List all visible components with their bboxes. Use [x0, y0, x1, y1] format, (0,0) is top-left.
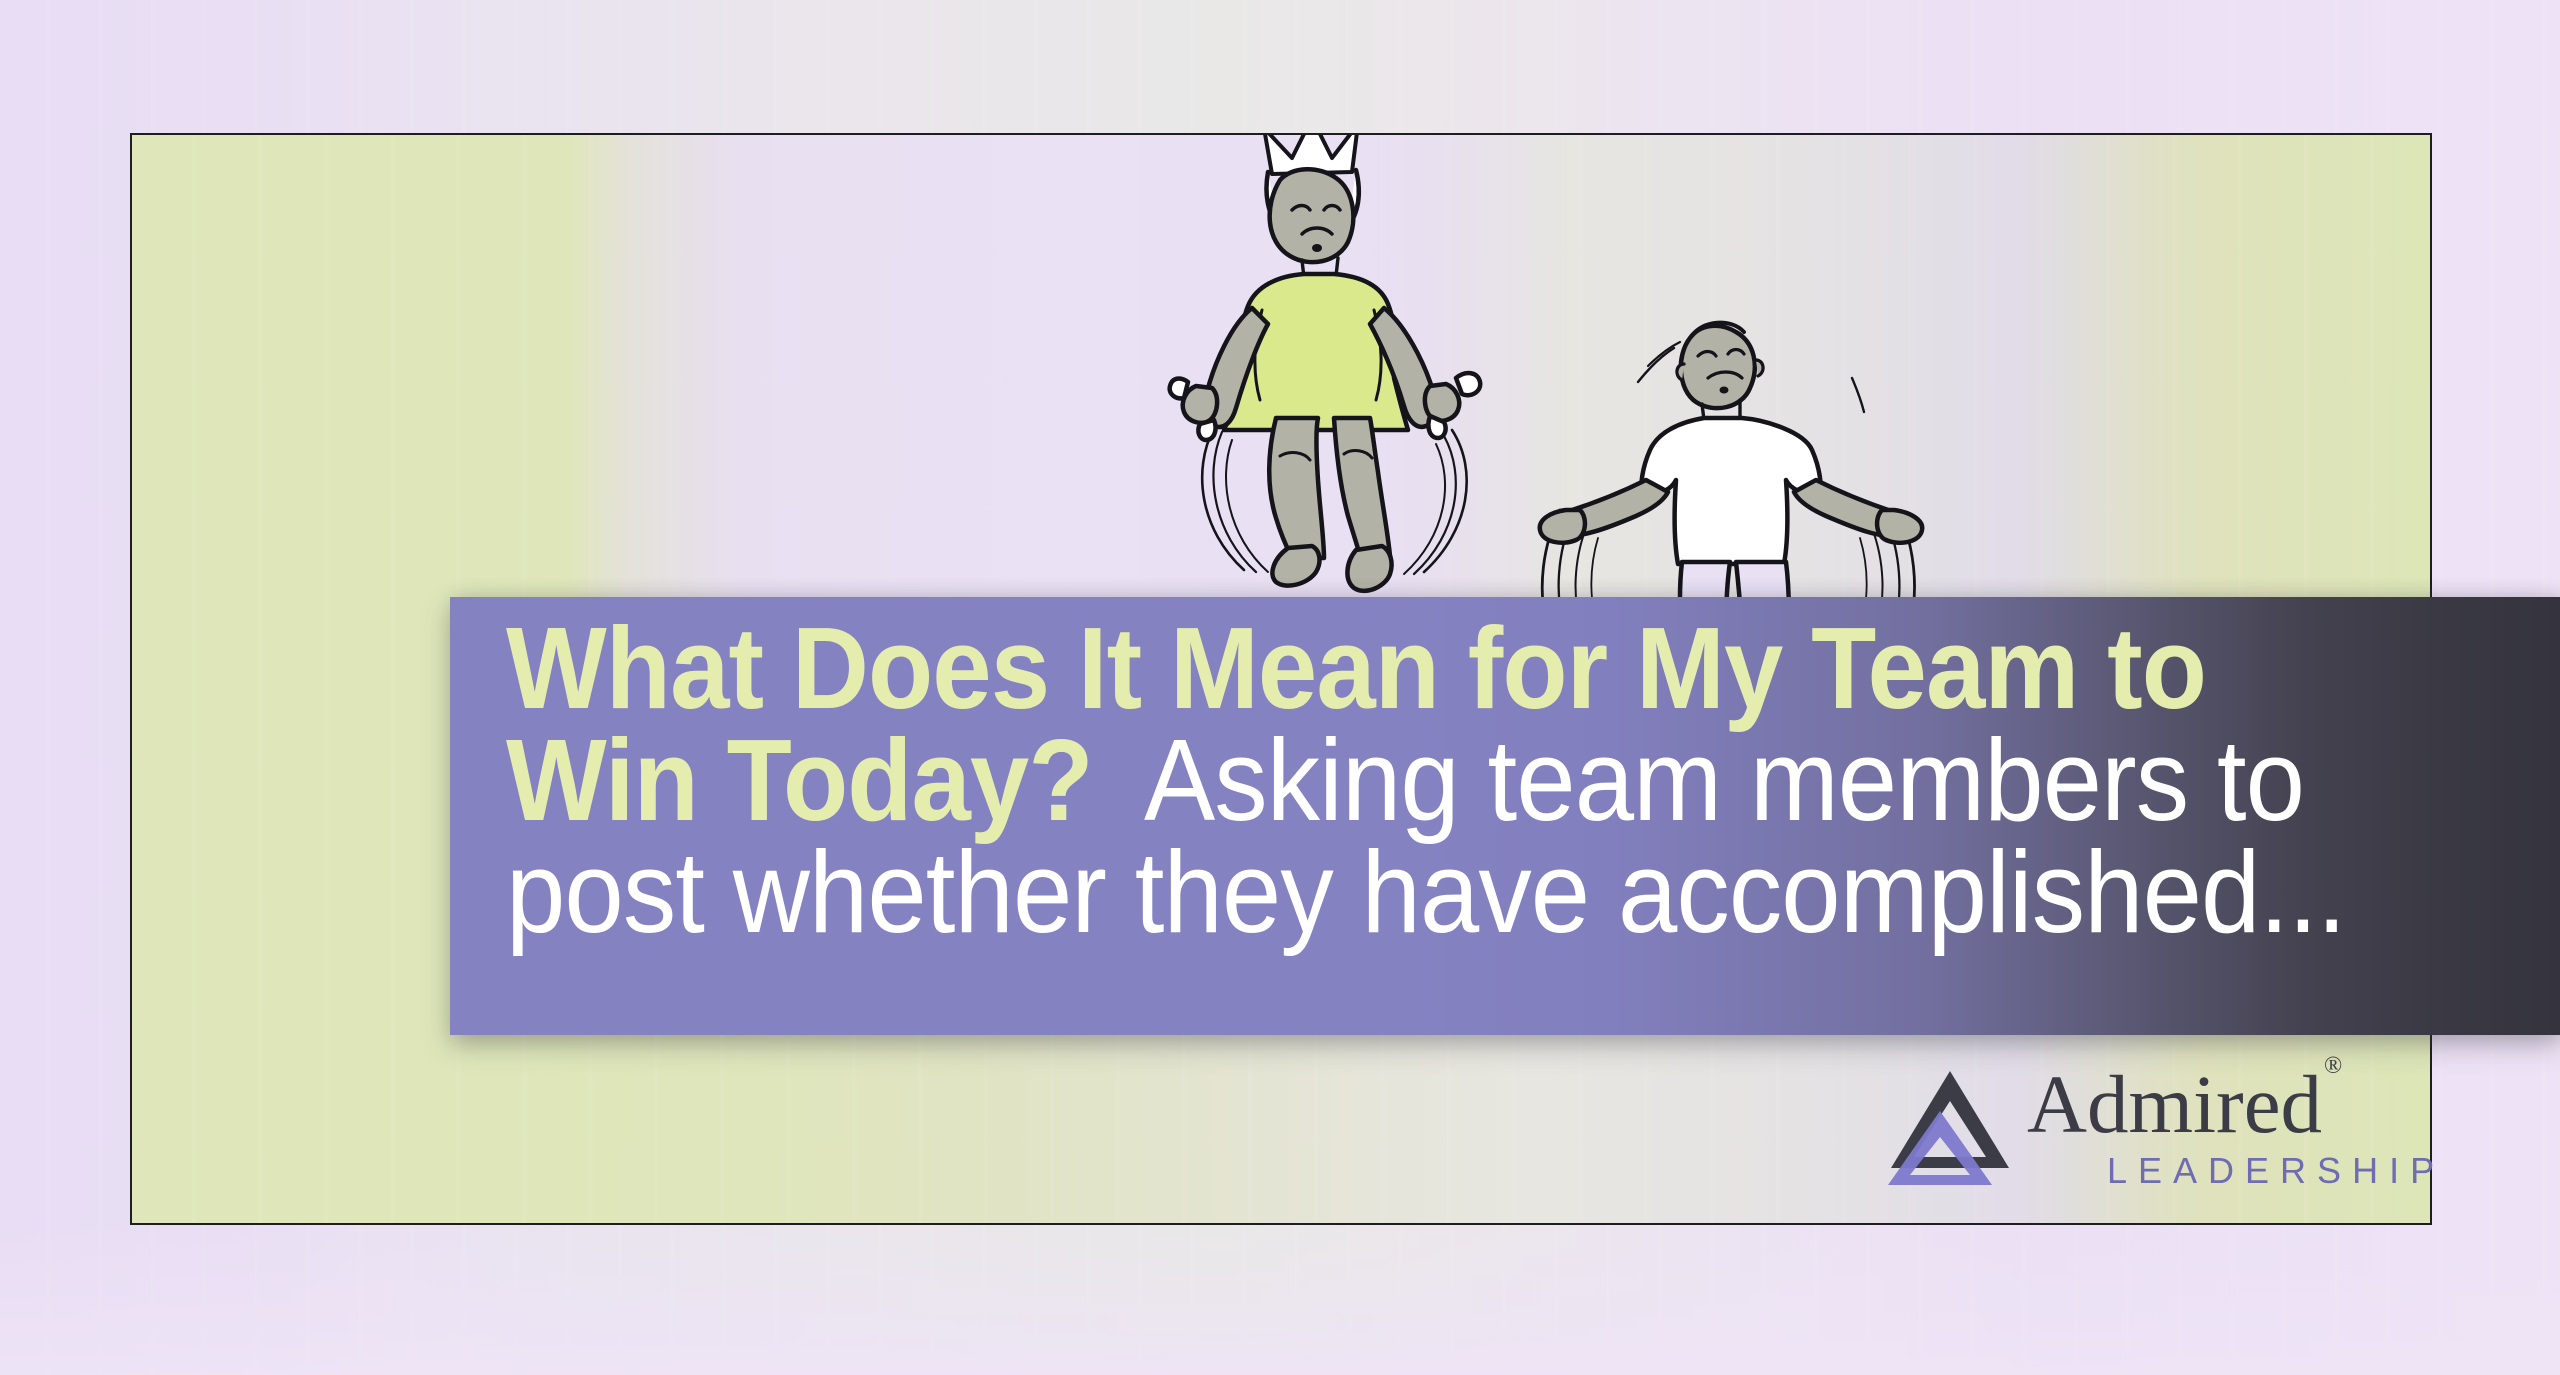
triangle-logo-mark [1888, 1067, 2013, 1185]
banner-line-3: post whether they have accomplished... [506, 837, 2560, 949]
banner-text-block: What Does It Mean for My Team to Win Tod… [506, 613, 2560, 949]
logo-wordmark: Admired® [2027, 1065, 2340, 1144]
banner-title-part-1: What Does It Mean for My Team to [506, 613, 2206, 725]
page-background-vignette [0, 1225, 2560, 1375]
screenshot-root: What Does It Mean for My Team to Win Tod… [0, 0, 2560, 1375]
logo-text-block: Admired® LEADERSHIP [2027, 1065, 2445, 1192]
article-title-banner[interactable]: What Does It Mean for My Team to Win Tod… [450, 597, 2560, 1035]
logo-tagline: LEADERSHIP [2107, 1150, 2445, 1192]
banner-title-part-2: Win Today? [506, 725, 1093, 837]
banner-excerpt-part-1: Asking team members to [1144, 725, 2304, 837]
registered-trademark-icon: ® [2324, 1053, 2342, 1079]
banner-line-2: Win Today?Asking team members to [506, 725, 2560, 837]
banner-line-1: What Does It Mean for My Team to [506, 613, 2560, 725]
logo-wordmark-text: Admired [2027, 1058, 2322, 1150]
banner-excerpt-part-2: post whether they have accomplished... [506, 837, 2346, 949]
admired-leadership-logo[interactable]: Admired® LEADERSHIP [1888, 1065, 2408, 1203]
